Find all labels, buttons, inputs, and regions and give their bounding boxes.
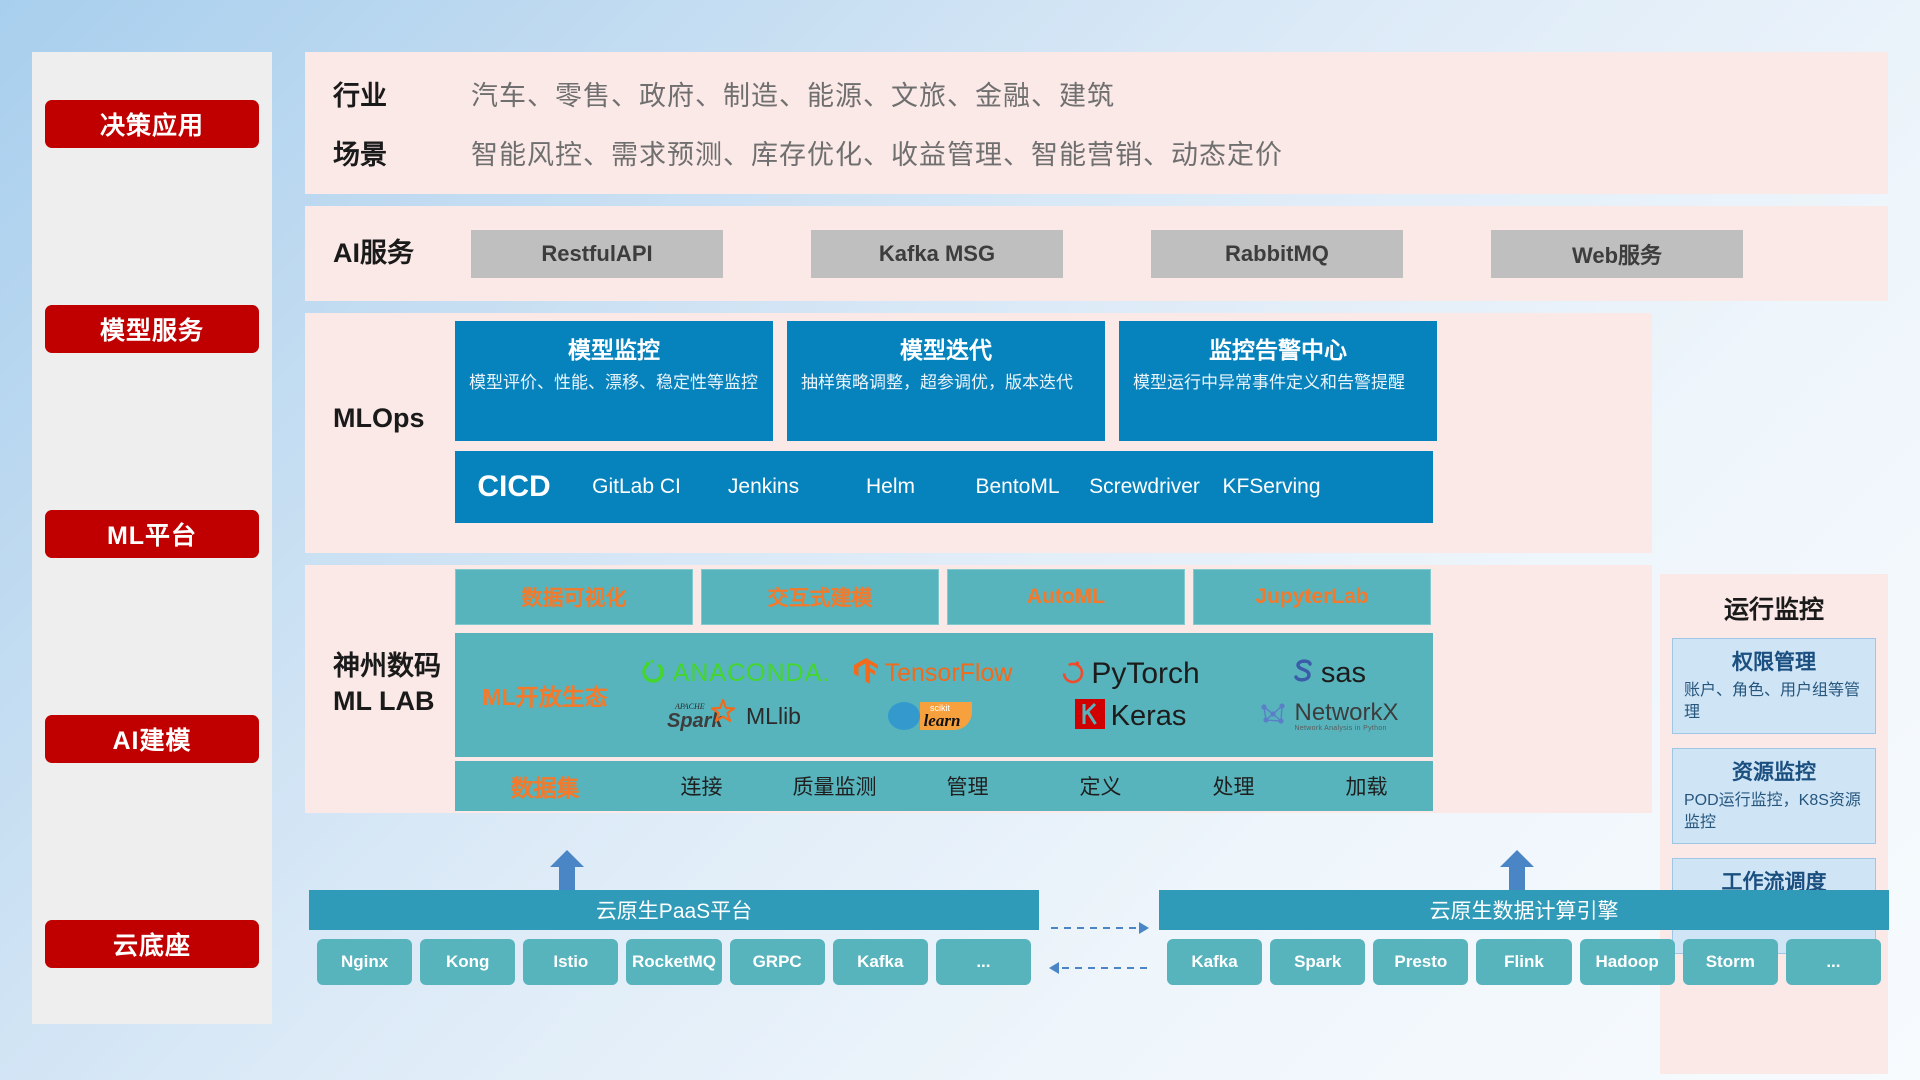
paas-chip-rocketmq[interactable]: RocketMQ [626,939,721,985]
paas-chip-list: Nginx Kong Istio RocketMQ GRPC Kafka ... [309,930,1039,985]
mlops-label: MLOps [333,401,425,436]
card-title: 模型迭代 [801,331,1091,365]
engine-title: 云原生数据计算引擎 [1159,890,1889,930]
anaconda-icon [638,656,668,691]
paas-chip-grpc[interactable]: GRPC [730,939,825,985]
industry-row: 行业 汽车、零售、政府、制造、能源、文旅、金融、建筑 [333,74,1283,113]
ai-chip-kafka-msg[interactable]: Kafka MSG [811,230,1063,278]
logo-label: NetworkX [1294,701,1398,725]
cloud-group-compute-engine: 云原生数据计算引擎 Kafka Spark Presto Flink Hadoo… [1159,890,1889,985]
paas-chip-istio[interactable]: Istio [523,939,618,985]
card-desc: 模型评价、性能、漂移、稳定性等监控 [469,371,759,395]
apache-spark-icon: APACHE Spark [667,696,741,737]
paas-chip-nginx[interactable]: Nginx [317,939,412,985]
dataset-item-loading[interactable]: 加载 [1300,771,1433,801]
ecosystem-logo-grid: ANACONDA. TensorFlow PyTorch [635,652,1433,738]
logo-label: sas [1321,657,1366,690]
modeling-tab-list: 数据可视化 交互式建模 AutoML JupyterLab [455,569,1431,625]
cicd-bar: CICD GitLab CI Jenkins Helm BentoML Scre… [455,451,1433,523]
layer-chip-ai-modeling[interactable]: AI建模 [45,715,259,763]
logo-sas: sas [1290,656,1366,691]
logo-label: ANACONDA. [673,659,831,688]
engine-chip-presto[interactable]: Presto [1373,939,1468,985]
ml-lab-label-line1: 神州数码 [333,649,441,684]
svg-text:learn: learn [924,711,961,730]
mlops-card-model-iteration[interactable]: 模型迭代 抽样策略调整，超参调优，版本迭代 [787,321,1105,441]
modeling-tab-automl[interactable]: AutoML [947,569,1185,625]
modeling-tab-interactive-modeling[interactable]: 交互式建模 [701,569,939,625]
ml-lab-label: 神州数码 ML LAB [333,649,441,719]
cicd-item-jenkins[interactable]: Jenkins [700,474,827,500]
mlops-card-alert-center[interactable]: 监控告警中心 模型运行中异常事件定义和告警提醒 [1119,321,1437,441]
mlops-block: MLOps 模型监控 模型评价、性能、漂移、稳定性等监控 模型迭代 抽样策略调整… [305,313,1652,553]
engine-chip-more[interactable]: ... [1786,939,1881,985]
keras-icon [1074,698,1106,735]
cicd-item-helm[interactable]: Helm [827,474,954,500]
ml-lab-block: 神州数码 ML LAB 数据可视化 交互式建模 AutoML JupyterLa… [305,565,1652,813]
card-title: 模型监控 [469,331,759,365]
cloud-base-zone: 云原生PaaS平台 Nginx Kong Istio RocketMQ GRPC… [305,852,1888,1024]
modeling-tab-data-visualization[interactable]: 数据可视化 [455,569,693,625]
ai-chip-rabbitmq[interactable]: RabbitMQ [1151,230,1403,278]
logo-label: MLlib [746,703,801,730]
logo-networkx: NetworkX Network Analysis in Python [1257,698,1398,735]
decision-apps-grid: 行业 汽车、零售、政府、制造、能源、文旅、金融、建筑 场景 智能风控、需求预测、… [305,74,1283,172]
paas-chip-kafka[interactable]: Kafka [833,939,928,985]
engine-chip-spark[interactable]: Spark [1270,939,1365,985]
ml-open-ecosystem-label: ML开放生态 [455,678,635,712]
card-title: 权限管理 [1684,646,1864,676]
monitor-card-resource-monitoring[interactable]: 资源监控 POD运行监控，K8S资源监控 [1672,748,1876,844]
dataset-bar: 数据集 连接 质量监测 管理 定义 处理 加载 [455,761,1433,811]
pytorch-icon [1060,656,1086,691]
engine-chip-list: Kafka Spark Presto Flink Hadoop Storm ..… [1159,930,1889,985]
scenario-label: 场景 [333,133,471,172]
cicd-item-gitlab-ci[interactable]: GitLab CI [573,474,700,500]
industry-label: 行业 [333,74,471,113]
ai-service-chip-list: RestfulAPI Kafka MSG RabbitMQ Web服务 [471,230,1743,278]
cicd-item-screwdriver[interactable]: Screwdriver [1081,474,1208,500]
engine-chip-kafka[interactable]: Kafka [1167,939,1262,985]
card-desc: POD运行监控，K8S资源监控 [1684,790,1864,835]
engine-chip-storm[interactable]: Storm [1683,939,1778,985]
logo-label: TensorFlow [885,659,1013,688]
ai-service-label: AI服务 [333,237,471,271]
sas-icon [1290,656,1316,691]
engine-chip-flink[interactable]: Flink [1476,939,1571,985]
scenario-row: 场景 智能风控、需求预测、库存优化、收益管理、智能营销、动态定价 [333,133,1283,172]
logo-label: Keras [1111,700,1187,733]
cicd-title: CICD [455,470,573,504]
paas-engine-link-arrows-icon [1047,914,1151,982]
card-desc: 账户、角色、用户组等管理 [1684,680,1864,725]
paas-title: 云原生PaaS平台 [309,890,1039,930]
cloud-group-paas: 云原生PaaS平台 Nginx Kong Istio RocketMQ GRPC… [309,890,1039,985]
dataset-item-connect[interactable]: 连接 [635,771,768,801]
modeling-tab-jupyterlab[interactable]: JupyterLab [1193,569,1431,625]
scikit-learn-icon: scikit learn [884,695,980,738]
arrow-up-engine-icon [1500,850,1534,890]
monitor-card-permission-management[interactable]: 权限管理 账户、角色、用户组等管理 [1672,638,1876,734]
cicd-item-bentoml[interactable]: BentoML [954,474,1081,500]
dataset-label: 数据集 [455,769,635,803]
networkx-tagline: Network Analysis in Python [1294,725,1398,732]
logo-scikit-learn: scikit learn [884,695,980,738]
ai-chip-restfulapi[interactable]: RestfulAPI [471,230,723,278]
band-ai-service: AI服务 RestfulAPI Kafka MSG RabbitMQ Web服务 [305,206,1888,301]
tensorflow-icon [852,656,880,691]
logo-anaconda: ANACONDA. [638,656,831,691]
band-ml-platform: MLOps 模型监控 模型评价、性能、漂移、稳定性等监控 模型迭代 抽样策略调整… [305,313,1888,813]
layer-chip-cloud-base[interactable]: 云底座 [45,920,259,968]
layer-chip-model-service[interactable]: 模型服务 [45,305,259,353]
card-desc: 模型运行中异常事件定义和告警提醒 [1133,371,1423,395]
logo-spark-mllib: APACHE Spark MLlib [667,696,801,737]
dataset-item-management[interactable]: 管理 [901,771,1034,801]
logo-tensorflow: TensorFlow [852,656,1013,691]
scenario-value: 智能风控、需求预测、库存优化、收益管理、智能营销、动态定价 [471,133,1283,172]
networkx-icon [1257,698,1289,735]
dataset-item-processing[interactable]: 处理 [1167,771,1300,801]
layer-chip-ml-platform[interactable]: ML平台 [45,510,259,558]
card-title: 监控告警中心 [1133,331,1423,365]
runtime-monitoring-title: 运行监控 [1724,590,1824,626]
industry-value: 汽车、零售、政府、制造、能源、文旅、金融、建筑 [471,74,1115,113]
architecture-stack: 行业 汽车、零售、政府、制造、能源、文旅、金融、建筑 场景 智能风控、需求预测、… [305,52,1888,1024]
dataset-item-quality-monitoring[interactable]: 质量监测 [768,771,901,801]
ai-chip-web-service[interactable]: Web服务 [1491,230,1743,278]
ml-lab-label-line2: ML LAB [333,684,441,719]
card-desc: 抽样策略调整，超参调优，版本迭代 [801,371,1091,395]
card-title: 资源监控 [1684,756,1864,786]
logo-label: PyTorch [1091,657,1199,691]
engine-chip-hadoop[interactable]: Hadoop [1580,939,1675,985]
layer-rail: 决策应用 模型服务 ML平台 AI建模 云底座 [32,52,272,1024]
ml-open-ecosystem-bar: ML开放生态 ANACONDA. TensorFlow [455,633,1433,757]
logo-label-group: NetworkX Network Analysis in Python [1294,701,1398,732]
paas-chip-kong[interactable]: Kong [420,939,515,985]
paas-chip-more[interactable]: ... [936,939,1031,985]
dataset-item-definition[interactable]: 定义 [1034,771,1167,801]
mlops-card-model-monitoring[interactable]: 模型监控 模型评价、性能、漂移、稳定性等监控 [455,321,773,441]
logo-pytorch: PyTorch [1060,656,1199,691]
cicd-item-kfserving[interactable]: KFServing [1208,474,1335,500]
band-decision-apps: 行业 汽车、零售、政府、制造、能源、文旅、金融、建筑 场景 智能风控、需求预测、… [305,52,1888,194]
layer-chip-decision-apps[interactable]: 决策应用 [45,100,259,148]
logo-keras: Keras [1074,698,1187,735]
arrow-up-paas-icon [550,850,584,890]
mlops-card-list: 模型监控 模型评价、性能、漂移、稳定性等监控 模型迭代 抽样策略调整，超参调优，… [455,321,1437,441]
